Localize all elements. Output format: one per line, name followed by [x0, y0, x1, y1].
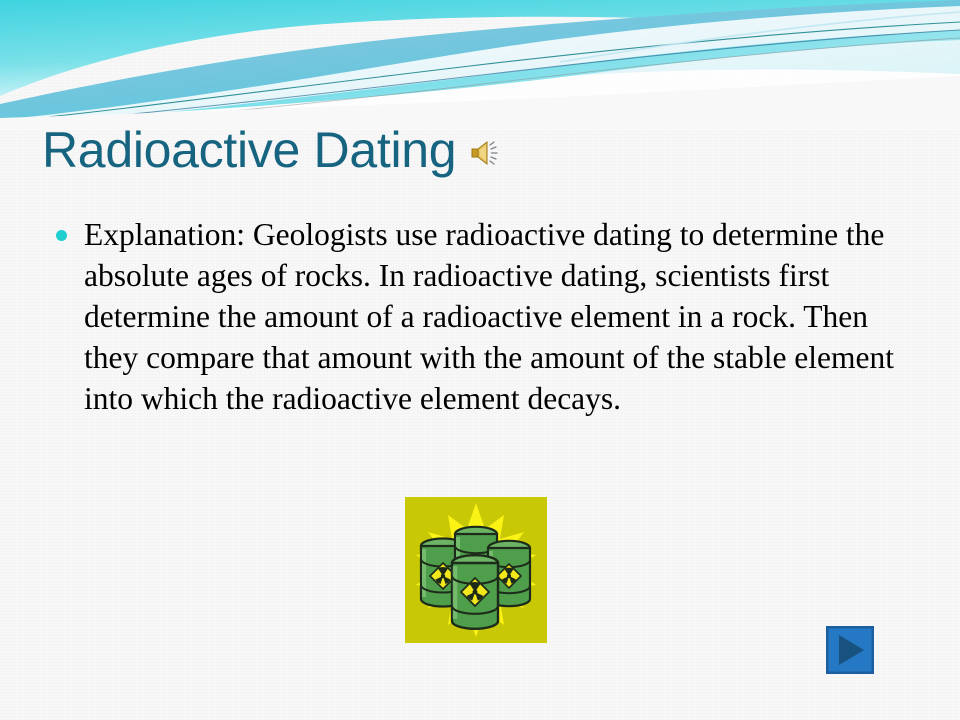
- bullet-point-icon: [56, 230, 67, 241]
- presentation-slide: Radioactive Dating Explanatio: [0, 0, 960, 720]
- bullet-item-text: Explanation: Geologists use radioactive …: [84, 214, 914, 419]
- title-row: Radioactive Dating: [42, 124, 504, 177]
- radioactive-barrels-image[interactable]: [405, 497, 547, 643]
- page-title: Radioactive Dating: [42, 124, 456, 177]
- speaker-icon[interactable]: [470, 138, 504, 168]
- header-decoration: [0, 0, 960, 130]
- next-slide-button[interactable]: [826, 626, 874, 674]
- content-bullet-list: Explanation: Geologists use radioactive …: [56, 214, 922, 419]
